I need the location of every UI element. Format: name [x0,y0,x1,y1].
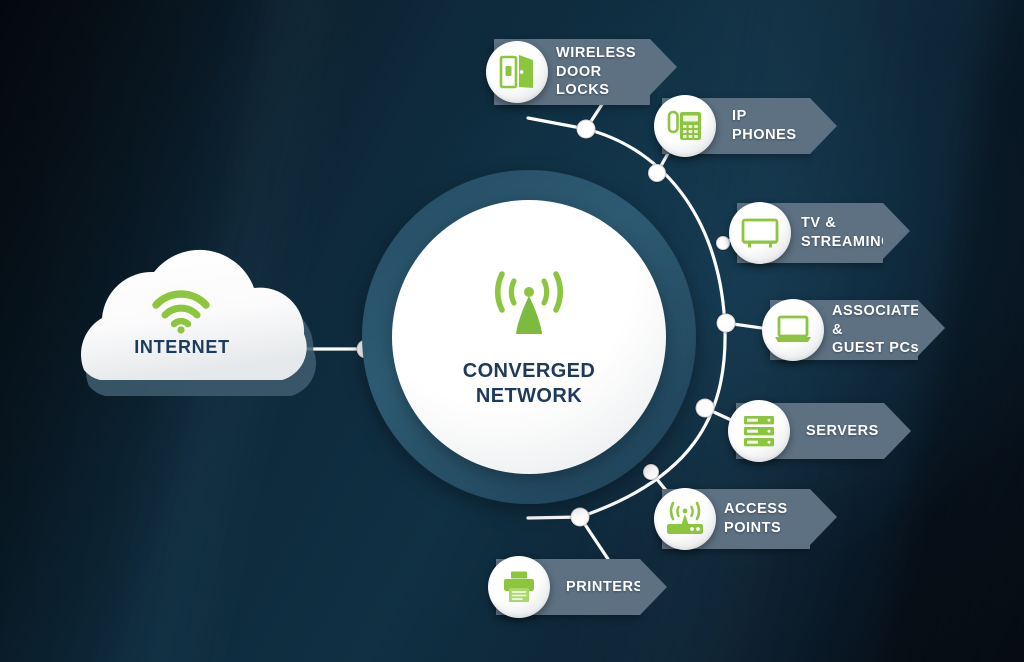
access-point-icon [654,488,716,550]
device-access-points[interactable]: ACCESS POINTS [662,489,810,549]
junction-dot [696,399,715,418]
device-label: SERVERS [806,423,879,439]
banner[interactable]: ASSOCIATE & GUEST PCs [770,300,918,360]
wireless-broadcast-icon [486,266,572,345]
cloud-wifi-icon [152,290,210,339]
laptop-icon [762,299,824,361]
door-lock-icon [486,41,548,103]
device-label: PRINTERS [566,579,644,595]
cloud-label: INTERNET [40,337,324,358]
banner[interactable]: IP PHONES [662,98,810,154]
internet-cloud[interactable]: INTERNET [40,244,360,410]
device-wireless-door-locks[interactable]: WIRELESS DOOR LOCKS [494,39,650,105]
device-label: ACCESS POINTS [724,501,788,536]
server-rack-icon [728,400,790,462]
device-associate-guest-pcs[interactable]: ASSOCIATE & GUEST PCs [770,300,918,360]
television-icon [729,202,791,264]
junction-dot [577,120,596,139]
device-label: WIRELESS DOOR LOCKS [556,45,636,98]
device-servers[interactable]: SERVERS [736,403,884,459]
network-diagram-canvas: INTERNET CONVERGED NETWORK [0,0,1024,662]
banner[interactable]: ACCESS POINTS [662,489,810,549]
desk-phone-icon [654,95,716,157]
device-tv-streaming[interactable]: TV & STREAMING [737,203,883,263]
junction-dot [571,508,590,527]
junction-dot [717,314,736,333]
device-label: TV & STREAMING [801,215,893,250]
junction-dot [716,236,730,250]
hub-title: CONVERGED NETWORK [463,359,596,408]
banner[interactable]: TV & STREAMING [737,203,883,263]
device-ip-phones[interactable]: IP PHONES [662,98,810,154]
device-label: IP PHONES [732,108,797,143]
device-label: ASSOCIATE & GUEST PCs [832,303,920,356]
hub-core: CONVERGED NETWORK [392,200,666,474]
banner[interactable]: WIRELESS DOOR LOCKS [494,39,650,105]
converged-network-hub[interactable]: CONVERGED NETWORK [362,170,696,504]
banner[interactable]: SERVERS [736,403,884,459]
banner[interactable]: PRINTERS [496,559,640,615]
device-printers[interactable]: PRINTERS [496,559,640,615]
printer-icon [488,556,550,618]
